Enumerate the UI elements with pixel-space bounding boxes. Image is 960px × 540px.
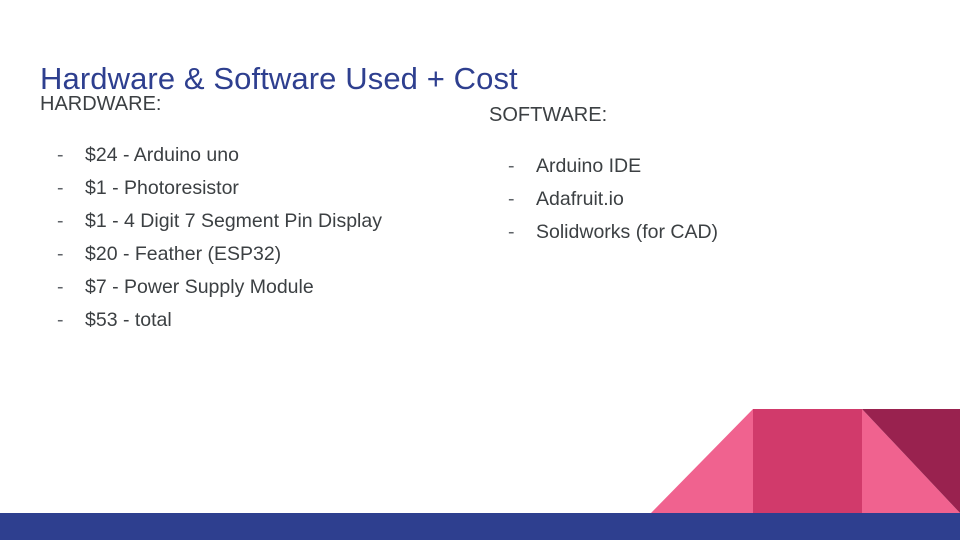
hardware-list: - $24 - Arduino uno - $1 - Photoresistor… — [40, 139, 470, 337]
list-item: - $1 - Photoresistor — [40, 172, 470, 205]
bullet-dash-icon: - — [40, 271, 85, 304]
list-item: - $20 - Feather (ESP32) — [40, 238, 470, 271]
hardware-column: HARDWARE: - $24 - Arduino uno - $1 - Pho… — [40, 90, 470, 337]
list-item-label: Solidworks (for CAD) — [536, 216, 718, 249]
software-column: SOFTWARE: - Arduino IDE - Adafruit.io - … — [489, 101, 929, 249]
list-item: - $24 - Arduino uno — [40, 139, 470, 172]
bullet-dash-icon: - — [489, 150, 536, 183]
list-item-label: $20 - Feather (ESP32) — [85, 238, 281, 271]
list-item: - $1 - 4 Digit 7 Segment Pin Display — [40, 205, 470, 238]
bullet-dash-icon: - — [40, 172, 85, 205]
bullet-dash-icon: - — [40, 304, 85, 337]
list-item-label: $1 - 4 Digit 7 Segment Pin Display — [85, 205, 382, 238]
list-item: - Adafruit.io — [489, 183, 929, 216]
list-item: - $7 - Power Supply Module — [40, 271, 470, 304]
bottom-accent-bar — [0, 513, 960, 540]
software-list: - Arduino IDE - Adafruit.io - Solidworks… — [489, 150, 929, 249]
list-item-label: $7 - Power Supply Module — [85, 271, 314, 304]
bullet-dash-icon: - — [40, 205, 85, 238]
dark-maroon-corner-triangle — [862, 409, 960, 513]
bullet-dash-icon: - — [40, 238, 85, 271]
bullet-dash-icon: - — [40, 139, 85, 172]
list-item-label: $53 - total — [85, 304, 172, 337]
list-item: - $53 - total — [40, 304, 470, 337]
list-item-label: $24 - Arduino uno — [85, 139, 239, 172]
list-item-label: $1 - Photoresistor — [85, 172, 239, 205]
bullet-dash-icon: - — [489, 216, 536, 249]
list-item: - Arduino IDE — [489, 150, 929, 183]
slide-canvas: Hardware & Software Used + Cost HARDWARE… — [0, 0, 960, 540]
bullet-dash-icon: - — [489, 183, 536, 216]
light-pink-right-triangle — [862, 409, 960, 513]
hardware-heading: HARDWARE: — [40, 90, 470, 118]
crimson-center-rectangle — [753, 409, 862, 513]
light-pink-left-triangle — [651, 409, 753, 513]
list-item-label: Adafruit.io — [536, 183, 624, 216]
list-item: - Solidworks (for CAD) — [489, 216, 929, 249]
software-heading: SOFTWARE: — [489, 101, 929, 129]
list-item-label: Arduino IDE — [536, 150, 641, 183]
